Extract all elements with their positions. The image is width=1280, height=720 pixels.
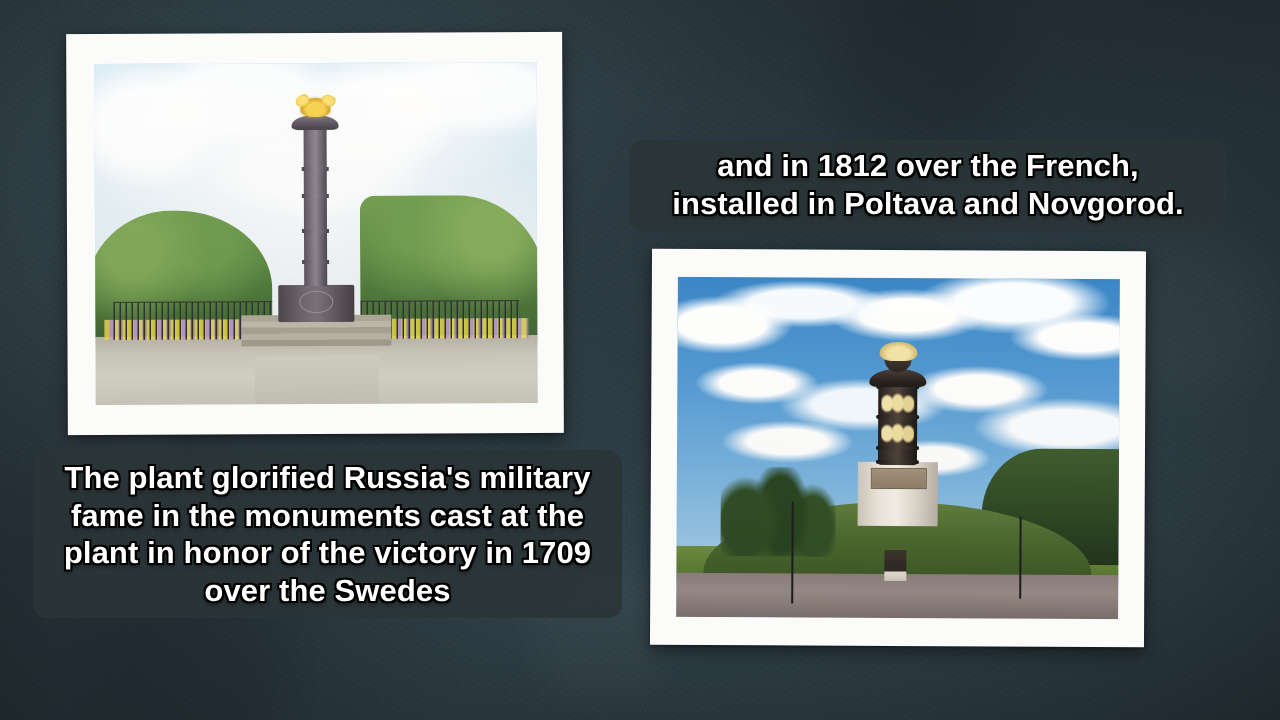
monument-pedestal bbox=[279, 285, 354, 323]
fir-trees bbox=[721, 467, 836, 556]
monument-column bbox=[303, 126, 328, 286]
golden-eagle-icon bbox=[300, 98, 331, 117]
walkway bbox=[255, 356, 379, 404]
subtitle-bottom-line-4: over the Swedes bbox=[33, 572, 622, 610]
golden-crown-icon bbox=[879, 342, 917, 361]
subtitle-bottom-line-2: fame in the monuments cast at the bbox=[33, 497, 622, 535]
monument-column bbox=[878, 383, 917, 465]
photo-novgorod-victory-column bbox=[676, 277, 1120, 619]
photo-poltava-glory-column bbox=[94, 62, 537, 405]
subtitle-top: and in 1812 over the French, installed i… bbox=[630, 140, 1226, 232]
video-frame: and in 1812 over the French, installed i… bbox=[0, 0, 1280, 720]
subtitle-top-line-1: and in 1812 over the French, bbox=[630, 147, 1226, 185]
inscription-plaque bbox=[871, 468, 926, 489]
lamp-post bbox=[1019, 517, 1021, 599]
photo-frame-left bbox=[66, 32, 564, 435]
subtitle-top-line-2: installed in Poltava and Novgorod. bbox=[630, 185, 1226, 223]
subtitle-bottom-line-3: plant in honor of the victory in 1709 bbox=[33, 534, 622, 572]
memorial-marker bbox=[884, 550, 906, 581]
subtitle-bottom-line-1: The plant glorified Russia's military bbox=[33, 459, 622, 497]
photo-frame-right bbox=[650, 249, 1146, 648]
subtitle-bottom: The plant glorified Russia's military fa… bbox=[33, 450, 622, 618]
